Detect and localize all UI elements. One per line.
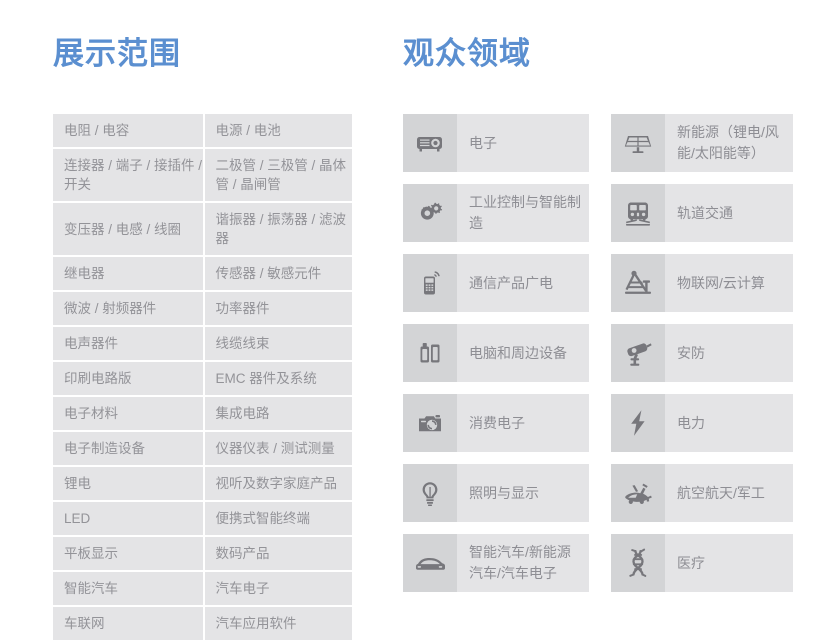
scope-cell: 电子材料 <box>53 397 203 432</box>
scope-cell: 汽车电子 <box>203 572 353 607</box>
train-icon <box>611 184 665 242</box>
audience-card-label: 物联网/云计算 <box>665 254 793 312</box>
audience-card-label: 消费电子 <box>457 394 589 452</box>
gears-icon <box>403 184 457 242</box>
audience-card: 安防 <box>611 324 793 382</box>
audience-card-label: 电力 <box>665 394 793 452</box>
table-row: 微波 / 射频器件功率器件 <box>53 292 352 327</box>
projector-icon <box>403 114 457 172</box>
table-row: 印刷电路版EMC 器件及系统 <box>53 362 352 397</box>
scope-cell: 变压器 / 电感 / 线圈 <box>53 203 203 257</box>
scope-cell: 继电器 <box>53 257 203 292</box>
audience-card-label: 医疗 <box>665 534 793 592</box>
audience-card: 新能源（锂电/风能/太阳能等） <box>611 114 793 172</box>
scope-cell: 数码产品 <box>203 537 353 572</box>
audience-card-label: 航空航天/军工 <box>665 464 793 522</box>
aircraft-icon <box>611 464 665 522</box>
audience-card: 航空航天/军工 <box>611 464 793 522</box>
table-row: 智能汽车汽车电子 <box>53 572 352 607</box>
scope-cell: 谐振器 / 振荡器 / 滤波器 <box>203 203 353 257</box>
scope-cell: 功率器件 <box>203 292 353 327</box>
scope-cell: LED <box>53 502 203 537</box>
audience-card: 医疗 <box>611 534 793 592</box>
audience-card: 工业控制与智能制造 <box>403 184 589 242</box>
table-row: 变压器 / 电感 / 线圈谐振器 / 振荡器 / 滤波器 <box>53 203 352 257</box>
page-title-audience-fields: 观众领域 <box>403 28 531 73</box>
table-row: LED便携式智能终端 <box>53 502 352 537</box>
exhibition-scope-page: 展示范围 观众领域 电阻 / 电容电源 / 电池连接器 / 端子 / 接插件 /… <box>0 0 840 572</box>
mobile-phone-icon <box>403 254 457 312</box>
audience-card: 电力 <box>611 394 793 452</box>
audience-card: 智能汽车/新能源汽车/汽车电子 <box>403 534 589 592</box>
audience-card-label: 安防 <box>665 324 793 382</box>
scope-cell: 微波 / 射频器件 <box>53 292 203 327</box>
audience-card-label: 照明与显示 <box>457 464 589 522</box>
scope-cell: 锂电 <box>53 467 203 502</box>
scope-cell: EMC 器件及系统 <box>203 362 353 397</box>
lightning-bolt-icon <box>611 394 665 452</box>
solar-panel-icon <box>611 114 665 172</box>
scope-cell: 集成电路 <box>203 397 353 432</box>
table-row: 锂电视听及数字家庭产品 <box>53 467 352 502</box>
audience-column-b: 新能源（锂电/风能/太阳能等） 轨道交通 物联网/云计算 <box>611 114 793 592</box>
scope-cell: 仪器仪表 / 测试测量 <box>203 432 353 467</box>
scope-cell: 汽车应用软件 <box>203 607 353 640</box>
audience-card: 照明与显示 <box>403 464 589 522</box>
scope-cell: 便携式智能终端 <box>203 502 353 537</box>
audience-card: 电脑和周边设备 <box>403 324 589 382</box>
car-icon <box>403 534 457 592</box>
audience-card: 物联网/云计算 <box>611 254 793 312</box>
table-row: 连接器 / 端子 / 接插件 / 开关二极管 / 三极管 / 晶体管 / 晶闸管 <box>53 149 352 203</box>
scope-cell: 连接器 / 端子 / 接插件 / 开关 <box>53 149 203 203</box>
table-row: 车联网汽车应用软件 <box>53 607 352 640</box>
lightbulb-icon <box>403 464 457 522</box>
audience-card: 轨道交通 <box>611 184 793 242</box>
scope-cell: 电子制造设备 <box>53 432 203 467</box>
scope-cell: 电声器件 <box>53 327 203 362</box>
audience-card-label: 工业控制与智能制造 <box>457 184 589 242</box>
scope-cell: 电阻 / 电容 <box>53 114 203 149</box>
audience-card-label: 轨道交通 <box>665 184 793 242</box>
exhibition-scope-table: 电阻 / 电容电源 / 电池连接器 / 端子 / 接插件 / 开关二极管 / 三… <box>53 114 352 640</box>
scope-cell: 平板显示 <box>53 537 203 572</box>
table-row: 电阻 / 电容电源 / 电池 <box>53 114 352 149</box>
table-row: 电子制造设备仪器仪表 / 测试测量 <box>53 432 352 467</box>
audience-card-label: 电脑和周边设备 <box>457 324 589 382</box>
audience-card: 消费电子 <box>403 394 589 452</box>
scope-table-body: 电阻 / 电容电源 / 电池连接器 / 端子 / 接插件 / 开关二极管 / 三… <box>53 114 352 640</box>
audience-column-a: 电子 工业控制与智能制造 通信产品广电 电脑和周边设备 <box>403 114 589 592</box>
usb-drives-icon <box>403 324 457 382</box>
scope-cell: 视听及数字家庭产品 <box>203 467 353 502</box>
page-title-exhibition-scope: 展示范围 <box>53 28 181 73</box>
audience-card-label: 通信产品广电 <box>457 254 589 312</box>
table-row: 平板显示数码产品 <box>53 537 352 572</box>
scope-cell: 智能汽车 <box>53 572 203 607</box>
table-row: 电声器件线缆线束 <box>53 327 352 362</box>
scope-cell: 电源 / 电池 <box>203 114 353 149</box>
oil-derrick-icon <box>611 254 665 312</box>
audience-card: 电子 <box>403 114 589 172</box>
security-camera-icon <box>611 324 665 382</box>
table-row: 继电器传感器 / 敏感元件 <box>53 257 352 292</box>
audience-card-label: 智能汽车/新能源汽车/汽车电子 <box>457 534 589 592</box>
audience-card: 通信产品广电 <box>403 254 589 312</box>
camera-icon <box>403 394 457 452</box>
scope-cell: 二极管 / 三极管 / 晶体管 / 晶闸管 <box>203 149 353 203</box>
scope-cell: 车联网 <box>53 607 203 640</box>
scope-cell: 传感器 / 敏感元件 <box>203 257 353 292</box>
table-row: 电子材料集成电路 <box>53 397 352 432</box>
audience-card-label: 新能源（锂电/风能/太阳能等） <box>665 114 793 172</box>
dna-icon <box>611 534 665 592</box>
audience-card-label: 电子 <box>457 114 589 172</box>
scope-cell: 线缆线束 <box>203 327 353 362</box>
scope-cell: 印刷电路版 <box>53 362 203 397</box>
